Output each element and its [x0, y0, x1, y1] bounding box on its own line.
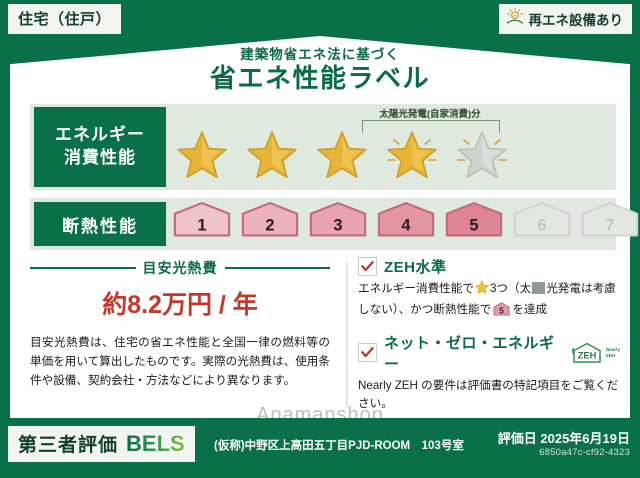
svg-text:2: 2 — [265, 217, 274, 235]
svg-text:5: 5 — [469, 217, 478, 235]
insulation-level-1: 1 — [172, 206, 232, 242]
heading-rule-right — [225, 267, 331, 269]
energy-label-page: 住宅（住戸） 再エネ設備あり 建築物省エネ法に基づく — [0, 0, 640, 478]
insulation-level-7: 7 — [580, 206, 640, 242]
utility-cost-heading-text: 目安光熱費 — [143, 258, 218, 278]
utility-cost-value: 約8.2万円 / 年 — [30, 285, 330, 321]
certification-net-zero-energy: ネット・ゼロ・エネルギー ZEH Nearly ZEH Nearly ZE — [358, 332, 620, 415]
insulation-level-2: 2 — [240, 206, 300, 242]
evaluation-date: 評価日 2025年6月19日 — [498, 428, 630, 447]
zeh-logo-sublabel: Nearly ZEH — [606, 347, 620, 357]
svg-text:3: 3 — [333, 217, 342, 235]
zeh-logo: ZEH Nearly ZEH — [571, 342, 620, 364]
energy-star-rating: 太陽光発電(自家消費)分 — [166, 104, 616, 190]
housing-type-tag: 住宅（住戸） — [8, 4, 121, 34]
bels-en-label: BELS — [126, 431, 185, 457]
zeh-text-part4: を達成 — [512, 303, 547, 316]
svg-text:1: 1 — [197, 217, 206, 235]
bels-logo: 第三者評価 BELS — [8, 426, 195, 462]
zeh-text-part2: 3つ（太 — [490, 282, 531, 295]
net-zero-title: ネット・ゼロ・エネルギー — [384, 332, 560, 374]
certification-zeh-standard: ZEH水準 エネルギー消費性能で3つ（太光発電は考慮しない）、かつ断熱性能で5を… — [358, 256, 620, 323]
utility-cost-section: 目安光熱費 約8.2万円 / 年 目安光熱費は、住宅の省エネ性能と全国一律の燃料… — [30, 258, 330, 390]
energy-star-2 — [244, 126, 300, 180]
heading-rule-left — [30, 267, 136, 269]
svg-text:7: 7 — [605, 217, 614, 235]
label-title: 省エネ性能ラベル — [0, 58, 640, 95]
column-divider — [346, 262, 348, 408]
insulation-level-5: 5 — [444, 206, 504, 242]
insulation-level-6: 6 — [512, 206, 572, 242]
svg-text:4: 4 — [401, 217, 411, 235]
zeh-standard-heading: ZEH水準 — [358, 256, 620, 277]
energy-star-5 — [454, 126, 510, 180]
check-icon — [358, 257, 377, 276]
check-icon — [358, 343, 377, 362]
insulation-performance-label: 断熱性能 — [34, 202, 166, 246]
energy-star-1 — [174, 126, 230, 180]
zeh-text-part1: エネルギー消費性能で — [358, 282, 474, 295]
sun-icon — [505, 7, 525, 30]
label-card: エネルギー 消費性能 太陽光発電(自家消費)分 — [10, 96, 630, 418]
energy-performance-row: エネルギー 消費性能 太陽光発電(自家消費)分 — [30, 104, 616, 190]
renewable-equipment-label: 再エネ設備あり — [529, 9, 624, 29]
utility-cost-heading: 目安光熱費 — [30, 258, 330, 278]
solar-caption: 太陽光発電(自家消費)分 — [362, 106, 498, 120]
renewable-equipment-badge: 再エネ設備あり — [499, 4, 633, 34]
svg-text:5: 5 — [499, 305, 504, 315]
energy-star-4 — [384, 126, 440, 180]
net-zero-heading: ネット・ゼロ・エネルギー ZEH Nearly ZEH — [358, 332, 620, 374]
footer-band: 第三者評価 BELS (仮称)中野区上高田五丁目PJD-ROOM 103号室 評… — [0, 418, 640, 478]
energy-star-3 — [314, 126, 370, 180]
zeh-sub-line2: ZEH — [606, 353, 615, 358]
insulation-level-4: 4 — [376, 206, 436, 242]
evaluation-id: 6850a47c-cf92-4323 — [539, 447, 630, 458]
bels-jp-label: 第三者評価 — [18, 430, 118, 457]
insulation-performance-row: 断熱性能 1 2 3 4 5 6 7 — [30, 198, 616, 250]
utility-cost-note: 目安光熱費は、住宅の省エネ性能と全国一律の燃料等の単価を用いて算出したものです。… — [30, 334, 330, 390]
energy-performance-label: エネルギー 消費性能 — [34, 107, 166, 187]
certification-section: ZEH水準 エネルギー消費性能で3つ（太光発電は考慮しない）、かつ断熱性能で5を… — [358, 256, 620, 423]
insulation-level-3: 3 — [308, 206, 368, 242]
redacted-character — [532, 282, 545, 294]
svg-text:6: 6 — [537, 217, 546, 235]
zeh-standard-title: ZEH水準 — [384, 256, 447, 277]
insulation-badge-icon: 5 — [493, 302, 510, 323]
zeh-standard-text: エネルギー消費性能で3つ（太光発電は考慮しない）、かつ断熱性能で5を達成 — [358, 280, 620, 323]
insulation-level-scale: 1 2 3 4 5 6 7 — [166, 198, 616, 250]
svg-text:ZEH: ZEH — [578, 349, 597, 360]
inline-star-icon — [475, 280, 489, 301]
property-address: (仮称)中野区上高田五丁目PJD-ROOM 103号室 — [214, 437, 464, 453]
header-band: 住宅（住戸） 再エネ設備あり 建築物省エネ法に基づく — [0, 0, 640, 100]
